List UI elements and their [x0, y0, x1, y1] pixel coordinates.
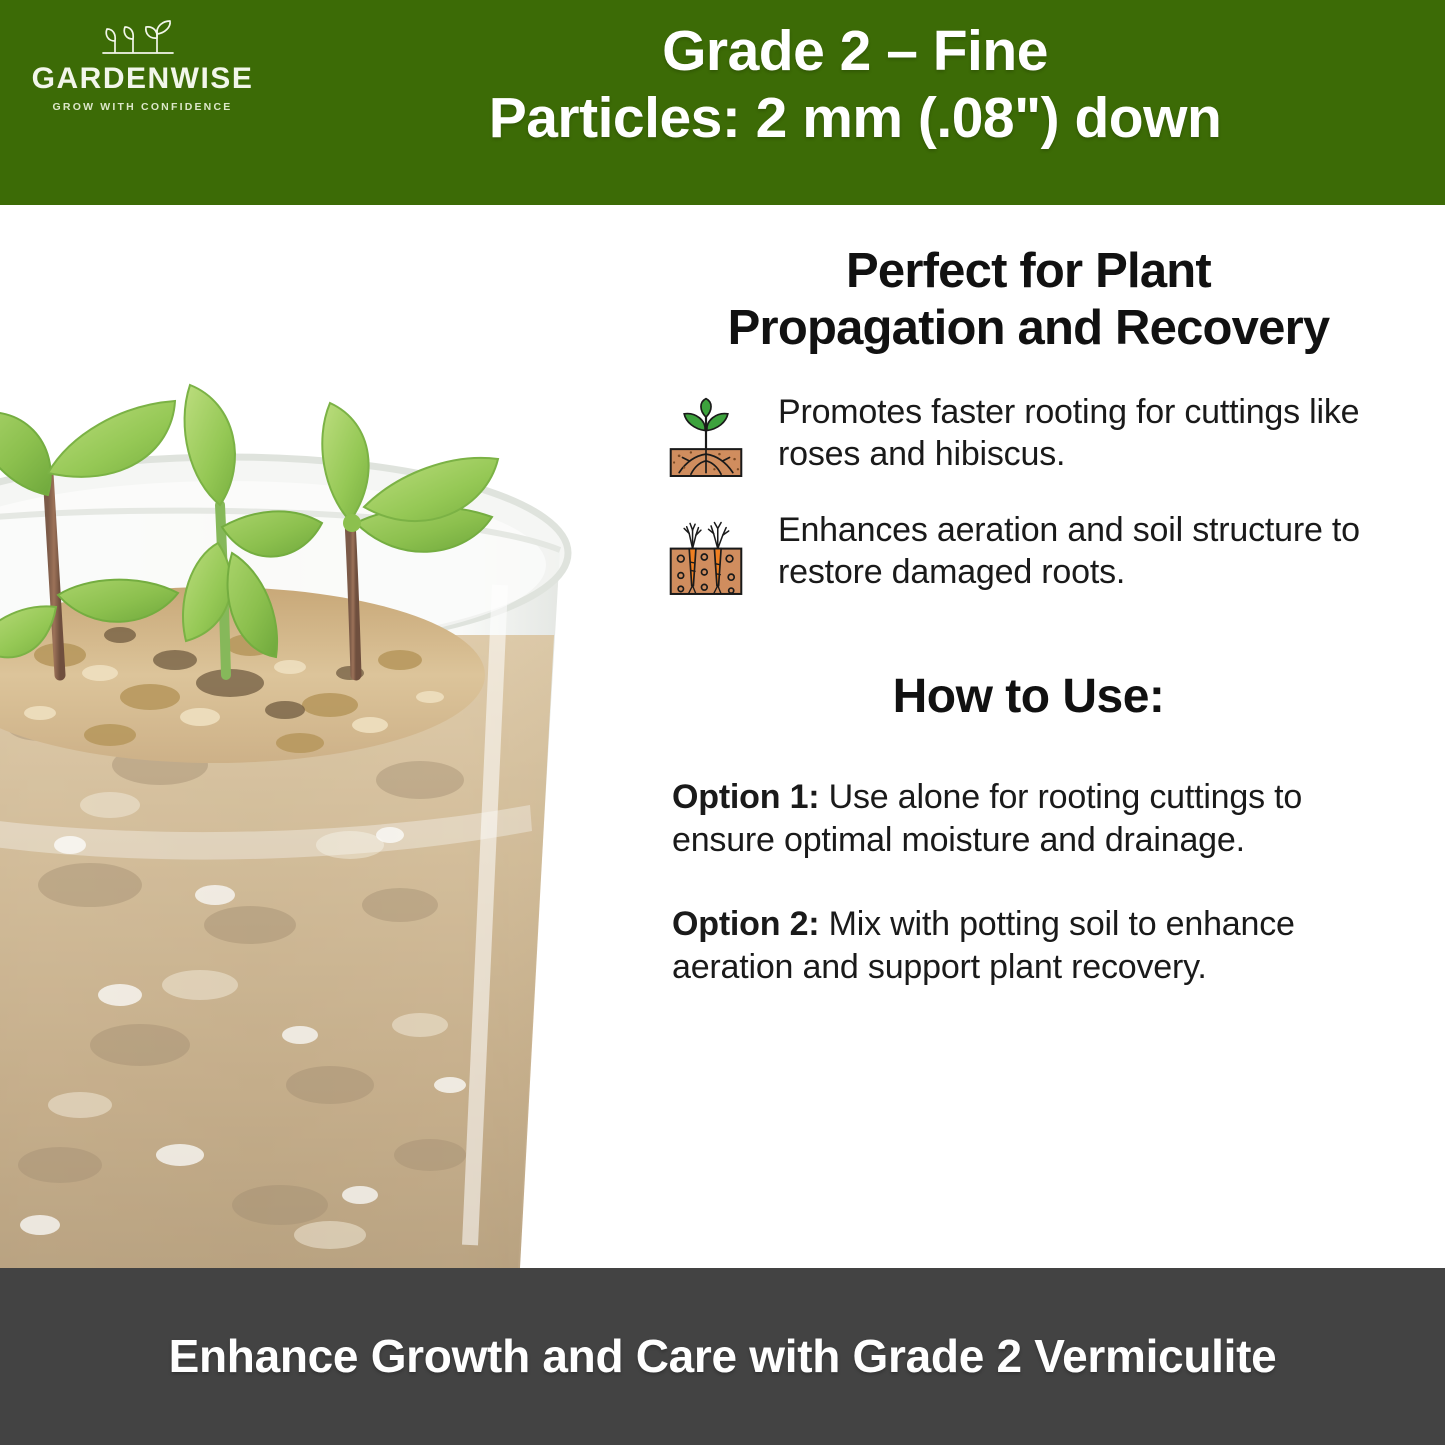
info-column: Perfect for Plant Propagation and Recove…: [640, 205, 1445, 1268]
how-to-use-options: Option 1: Use alone for rooting cuttings…: [660, 776, 1397, 990]
seedling-roots-icon: [660, 391, 752, 483]
option-2: Option 2: Mix with potting soil to enhan…: [672, 903, 1397, 990]
brand-name: GARDENWISE: [32, 64, 254, 94]
benefits-list: Promotes faster rooting for cuttings lik…: [660, 391, 1397, 601]
carrots-in-soil-icon: [660, 509, 752, 601]
benefit-text: Enhances aeration and soil structure to …: [752, 509, 1397, 595]
header-particles-line: Particles: 2 mm (.08") down: [295, 85, 1415, 152]
benefits-heading-line2: Propagation and Recovery: [660, 300, 1397, 357]
benefits-heading: Perfect for Plant Propagation and Recove…: [660, 243, 1397, 357]
brand-logo: GARDENWISE GROW WITH CONFIDENCE: [0, 0, 285, 113]
product-photo: [0, 205, 640, 1268]
how-to-use-heading: How to Use:: [660, 669, 1397, 724]
header-title-block: Grade 2 – Fine Particles: 2 mm (.08") do…: [285, 0, 1445, 153]
footer-tagline: Enhance Growth and Care with Grade 2 Ver…: [169, 1329, 1277, 1384]
header-grade-line: Grade 2 – Fine: [295, 18, 1415, 85]
list-item: Enhances aeration and soil structure to …: [660, 509, 1397, 601]
sprout-row-icon: [95, 14, 191, 62]
option-1: Option 1: Use alone for rooting cuttings…: [672, 776, 1397, 863]
main-content: Perfect for Plant Propagation and Recove…: [0, 205, 1445, 1268]
option-1-label: Option 1:: [672, 778, 819, 816]
brand-tagline: GROW WITH CONFIDENCE: [53, 101, 233, 113]
benefits-heading-line1: Perfect for Plant: [660, 243, 1397, 300]
list-item: Promotes faster rooting for cuttings lik…: [660, 391, 1397, 483]
footer-banner: Enhance Growth and Care with Grade 2 Ver…: [0, 1268, 1445, 1445]
benefit-text: Promotes faster rooting for cuttings lik…: [752, 391, 1397, 477]
option-2-label: Option 2:: [672, 905, 819, 943]
header-banner: GARDENWISE GROW WITH CONFIDENCE Grade 2 …: [0, 0, 1445, 205]
